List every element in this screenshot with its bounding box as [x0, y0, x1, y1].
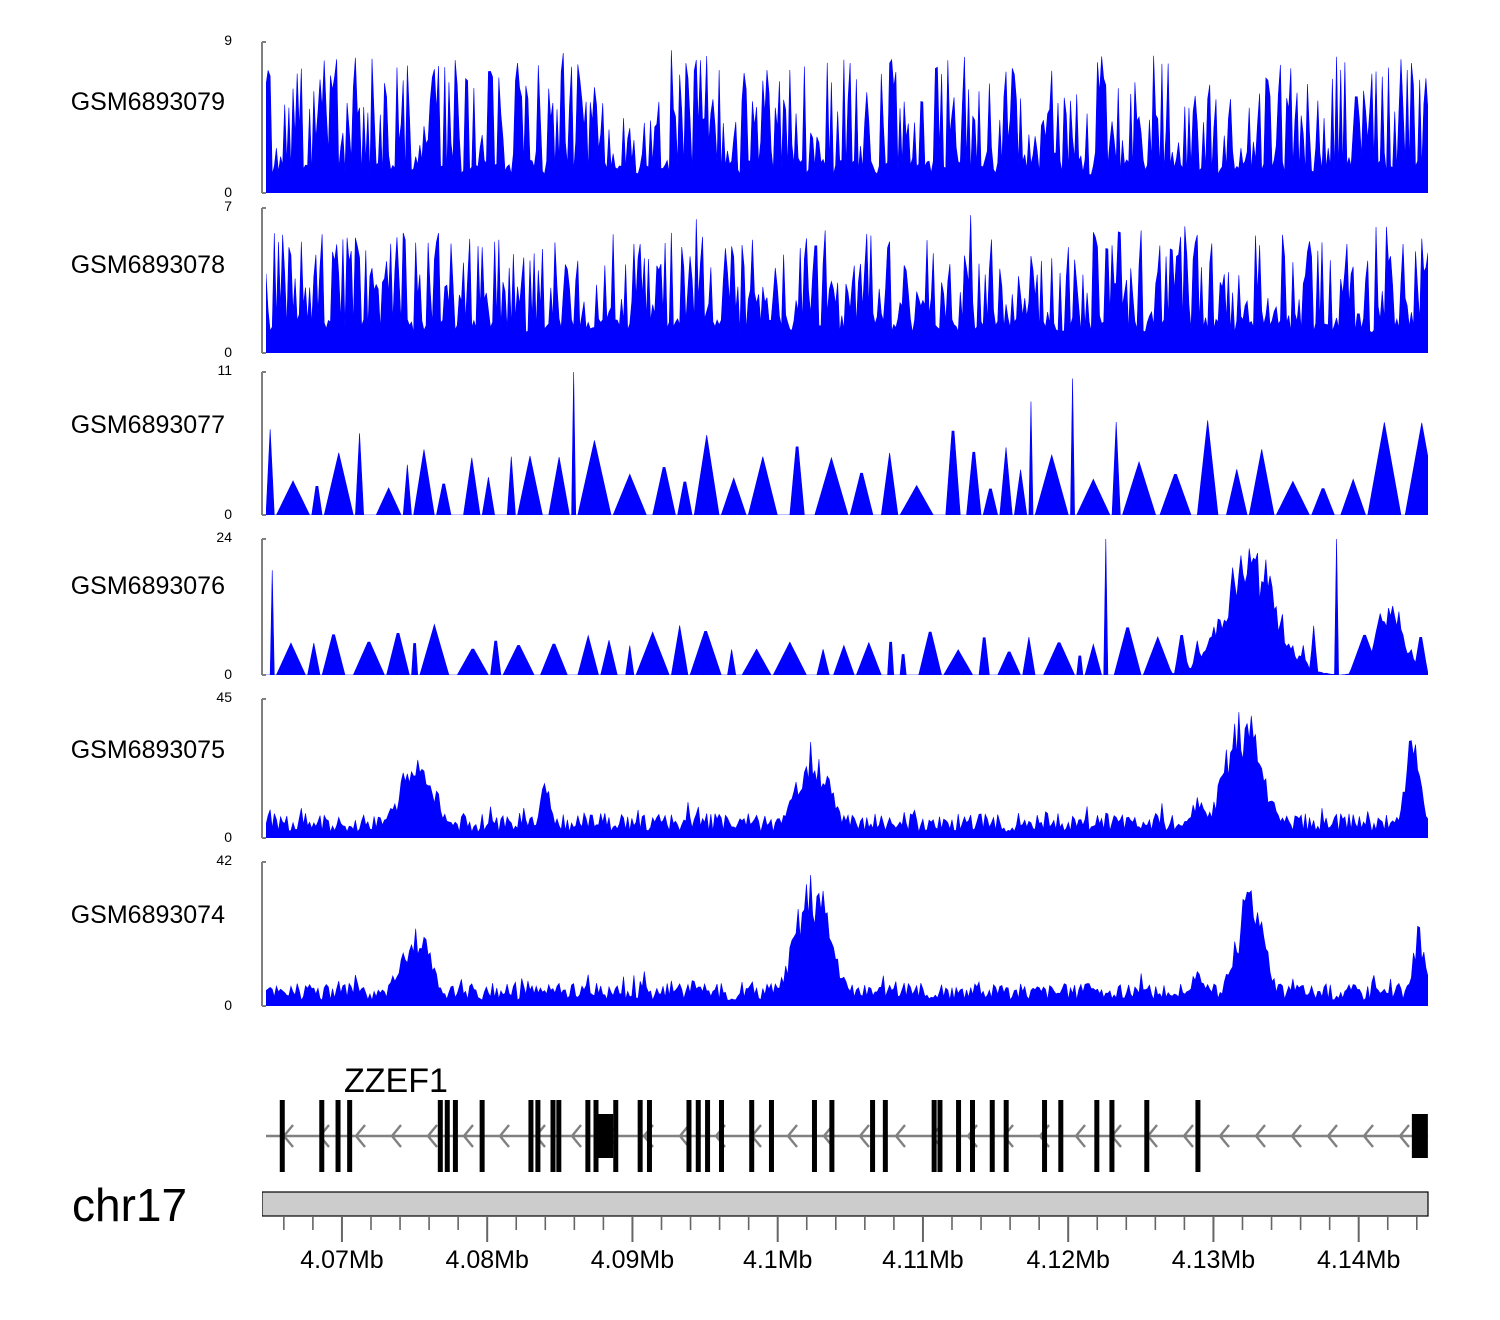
gene-exon [1094, 1100, 1099, 1172]
y-axis-max-tick: 45 [200, 689, 232, 705]
y-axis-max-tick: 42 [200, 852, 232, 868]
gene-exon [585, 1100, 590, 1172]
y-axis-max-tick: 7 [200, 198, 232, 214]
chromosome-label: chr17 [72, 1178, 187, 1232]
gene-exon [932, 1100, 937, 1172]
gene-exon [453, 1100, 458, 1172]
gene-exon [528, 1100, 533, 1172]
ruler-tick-label: 4.12Mb [1027, 1246, 1110, 1274]
gene-exon [319, 1100, 324, 1172]
track-label-GSM6893078: GSM6893078 [0, 251, 225, 280]
gene-exon [1412, 1114, 1428, 1158]
ruler-tick-label: 4.14Mb [1317, 1246, 1400, 1274]
gene-exon [1004, 1100, 1009, 1172]
gene-exon [937, 1100, 942, 1172]
gene-exon [883, 1100, 888, 1172]
track-label-GSM6893075: GSM6893075 [0, 736, 225, 765]
gene-exon [480, 1100, 485, 1172]
gene-exon [705, 1100, 710, 1172]
genome-browser-figure: GSM689307990GSM689307870GSM6893077110GSM… [0, 0, 1500, 1320]
gene-exon [769, 1100, 774, 1172]
gene-name-label: ZZEF1 [344, 1062, 448, 1101]
gene-exon [1109, 1100, 1114, 1172]
y-axis-min-tick: 0 [200, 997, 232, 1013]
gene-exon [438, 1100, 443, 1172]
ruler-tick-label: 4.08Mb [446, 1246, 529, 1274]
y-axis-max-tick: 9 [200, 32, 232, 48]
ruler-tick-label: 4.13Mb [1172, 1246, 1255, 1274]
gene-exon [1195, 1100, 1200, 1172]
genomic-ruler: 4.07Mb4.08Mb4.09Mb4.1Mb4.11Mb4.12Mb4.13M… [262, 1190, 1444, 1290]
ruler-tick-label: 4.1Mb [743, 1246, 812, 1274]
track-label-GSM6893076: GSM6893076 [0, 572, 225, 601]
gene-exon [956, 1100, 961, 1172]
gene-exon [535, 1100, 540, 1172]
gene-exon [870, 1100, 875, 1172]
y-axis-max-tick: 24 [200, 529, 232, 545]
gene-exon [556, 1100, 561, 1172]
gene-exon [990, 1100, 995, 1172]
y-axis-min-tick: 0 [200, 344, 232, 360]
y-axis-min-tick: 0 [200, 506, 232, 522]
gene-exon [336, 1100, 341, 1172]
gene-exon [597, 1114, 613, 1158]
gene-model-track [262, 1098, 1434, 1174]
coverage-area-GSM6893078 [266, 208, 1428, 353]
gene-exon [1058, 1100, 1063, 1172]
coverage-area-GSM6893076 [266, 539, 1428, 675]
coverage-area-GSM6893074 [266, 862, 1428, 1006]
track-label-GSM6893074: GSM6893074 [0, 901, 225, 930]
gene-exon [1042, 1100, 1047, 1172]
gene-exon [638, 1100, 643, 1172]
ruler-tick-label: 4.09Mb [591, 1246, 674, 1274]
gene-exon [686, 1100, 691, 1172]
gene-exon [613, 1100, 618, 1172]
coverage-area-GSM6893077 [266, 372, 1428, 515]
ruler-tick-label: 4.11Mb [882, 1246, 964, 1274]
gene-exon [647, 1100, 652, 1172]
gene-exon [1144, 1100, 1149, 1172]
track-label-GSM6893079: GSM6893079 [0, 88, 225, 117]
y-axis-max-tick: 11 [200, 362, 232, 378]
gene-exon [812, 1100, 817, 1172]
gene-exon [347, 1100, 352, 1172]
gene-exon [696, 1100, 701, 1172]
gene-exon [970, 1100, 975, 1172]
y-axis-min-tick: 0 [200, 829, 232, 845]
coverage-area-GSM6893079 [266, 42, 1428, 193]
gene-exon [719, 1100, 724, 1172]
gene-exon [829, 1100, 834, 1172]
gene-exon [280, 1100, 285, 1172]
gene-exon [749, 1100, 754, 1172]
track-label-GSM6893077: GSM6893077 [0, 411, 225, 440]
gene-exon [445, 1100, 450, 1172]
coverage-area-GSM6893075 [266, 699, 1428, 838]
gene-exon [551, 1100, 556, 1172]
ruler-tick-label: 4.07Mb [300, 1246, 383, 1274]
y-axis-min-tick: 0 [200, 666, 232, 682]
